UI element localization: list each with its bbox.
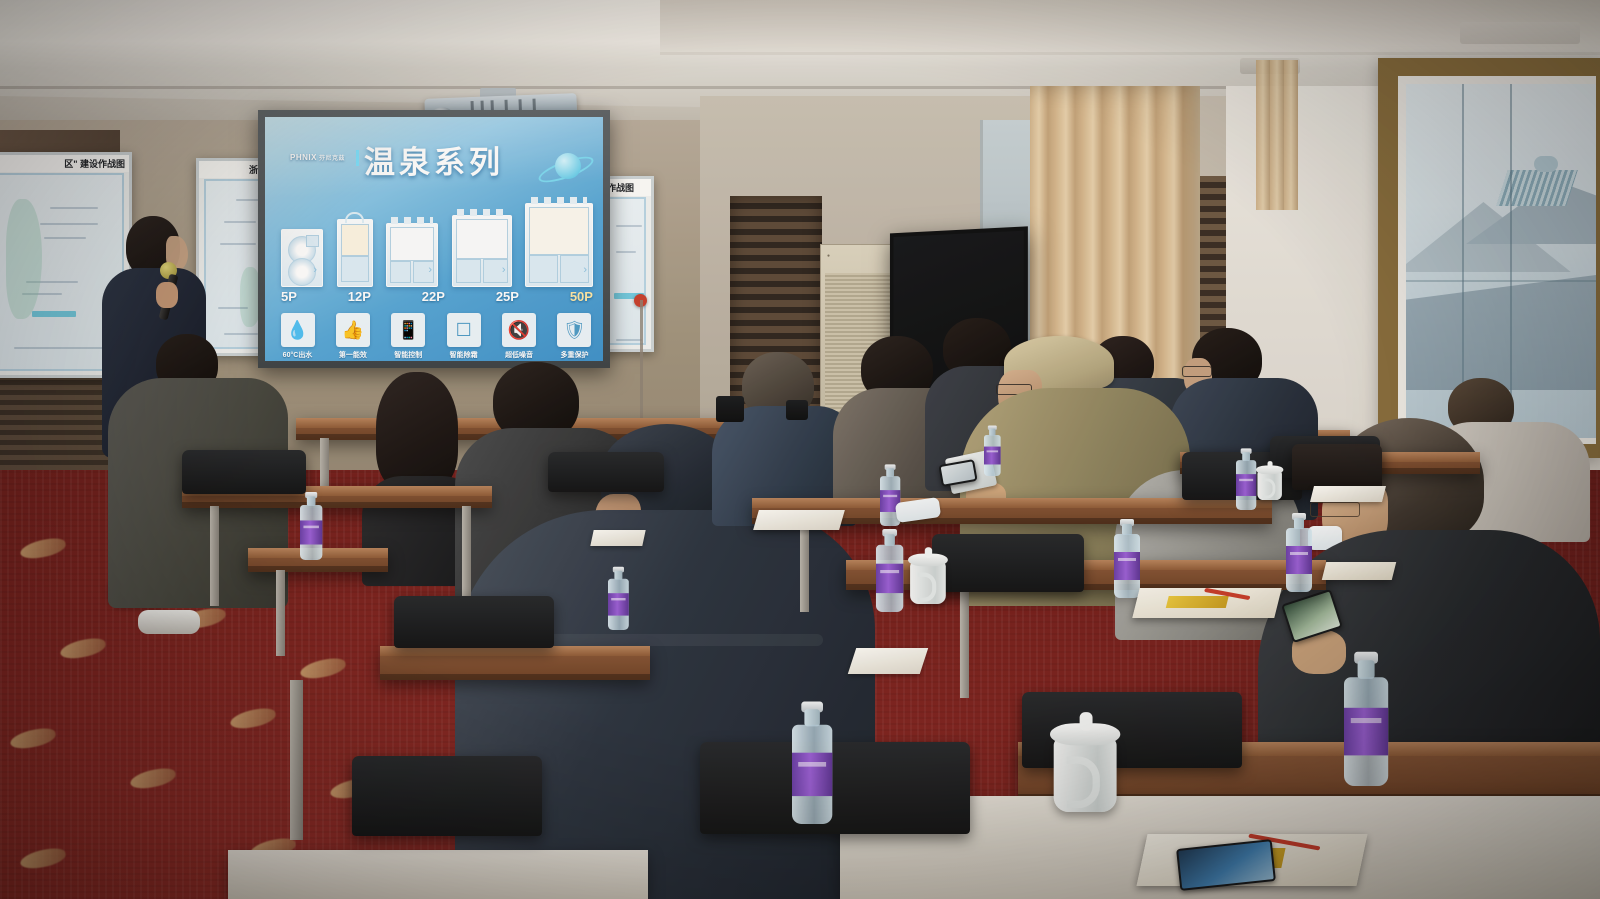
table-leg bbox=[290, 680, 303, 840]
water-bottle[interactable] bbox=[1114, 524, 1140, 598]
product-unit-25p: › bbox=[452, 215, 512, 287]
product-unit-50p: › bbox=[525, 203, 593, 287]
tea-mug[interactable] bbox=[1050, 716, 1128, 812]
meeting-room-photo: 区" 建设作战图 浙江 作战图 bbox=[0, 0, 1600, 899]
ceiling-vent-icon bbox=[1460, 22, 1580, 44]
laptop[interactable] bbox=[786, 400, 808, 420]
feature-item: 🛡 多重保护 bbox=[552, 313, 597, 360]
projection-screen: PHNIX芬尼克兹 温泉系列 › bbox=[258, 110, 610, 368]
chair bbox=[182, 450, 306, 494]
brochure[interactable] bbox=[1322, 562, 1396, 580]
water-bottle[interactable] bbox=[1286, 518, 1312, 592]
paper-sheet[interactable] bbox=[753, 510, 845, 530]
table-leg bbox=[276, 570, 285, 656]
water-bottle[interactable] bbox=[300, 496, 322, 560]
poster-left-title: 区" 建设作战图 bbox=[0, 155, 129, 172]
screen-cable bbox=[640, 300, 643, 430]
chair bbox=[1292, 444, 1382, 490]
product-captions: 5P 12P 22P 25P 50P bbox=[281, 289, 593, 304]
chair bbox=[548, 452, 664, 492]
water-bottle[interactable] bbox=[1344, 660, 1388, 786]
shield-snow-icon: 🛡 bbox=[557, 313, 591, 347]
water-bottle[interactable] bbox=[984, 429, 1001, 476]
product-unit-5p: › bbox=[281, 229, 323, 287]
chair bbox=[932, 534, 1084, 592]
ac-brand-label: ● bbox=[827, 253, 831, 259]
caption-25p: 25P bbox=[496, 289, 519, 304]
caption-22p: 22P bbox=[422, 289, 445, 304]
table-leg bbox=[462, 506, 471, 602]
poster-right-title: 作战图 bbox=[603, 179, 651, 196]
mute-icon: 🔇 bbox=[502, 313, 536, 347]
caption-50p: 50P bbox=[570, 289, 593, 304]
tea-mug[interactable] bbox=[1256, 463, 1286, 500]
product-lineup: › › › bbox=[281, 201, 593, 287]
curtain bbox=[1256, 60, 1298, 210]
table-leg bbox=[210, 506, 219, 606]
caption-12p: 12P bbox=[348, 289, 371, 304]
paper-sheet[interactable] bbox=[590, 530, 645, 546]
feature-item: 📱 智能控制 bbox=[386, 313, 431, 360]
water-bottle[interactable] bbox=[1236, 452, 1256, 510]
feature-row: 💧 60°C出水 👍 第一能效 📱 智能控制 ☐ 智能除霜 🔇 超低 bbox=[275, 313, 597, 360]
water-bottle[interactable] bbox=[876, 534, 903, 612]
paper-sheet[interactable] bbox=[848, 648, 928, 674]
table-row-6 bbox=[380, 646, 650, 680]
product-unit-22p: › bbox=[386, 223, 438, 287]
presenter-hand bbox=[156, 282, 178, 308]
phone-control-icon: 📱 bbox=[391, 313, 425, 347]
thumbs-up-icon: 👍 bbox=[336, 313, 370, 347]
laptop[interactable] bbox=[716, 396, 744, 422]
water-bottle[interactable] bbox=[608, 571, 629, 630]
table-leg bbox=[960, 588, 969, 698]
panel-icon: ☐ bbox=[447, 313, 481, 347]
planet-icon bbox=[555, 153, 581, 179]
feature-item: 👍 第一能效 bbox=[330, 313, 375, 360]
feature-item: 🔇 超低噪音 bbox=[497, 313, 542, 360]
feature-item: ☐ 智能除霜 bbox=[441, 313, 486, 360]
chair bbox=[394, 596, 554, 648]
brochure[interactable] bbox=[1132, 588, 1281, 618]
product-unit-12p bbox=[337, 219, 373, 287]
table-front-white-left bbox=[228, 850, 648, 899]
solar-heater-icon bbox=[1496, 170, 1578, 206]
tea-mug[interactable] bbox=[908, 549, 952, 604]
chair bbox=[700, 742, 970, 834]
table-leg bbox=[800, 522, 809, 612]
chair bbox=[352, 756, 542, 836]
glasses-icon bbox=[1310, 502, 1360, 517]
paper-sheet[interactable] bbox=[1310, 486, 1386, 502]
water-bottle[interactable] bbox=[792, 709, 832, 824]
ceiling-recess bbox=[660, 0, 1600, 55]
brochure-artwork bbox=[1166, 596, 1229, 608]
caption-5p: 5P bbox=[281, 289, 297, 304]
